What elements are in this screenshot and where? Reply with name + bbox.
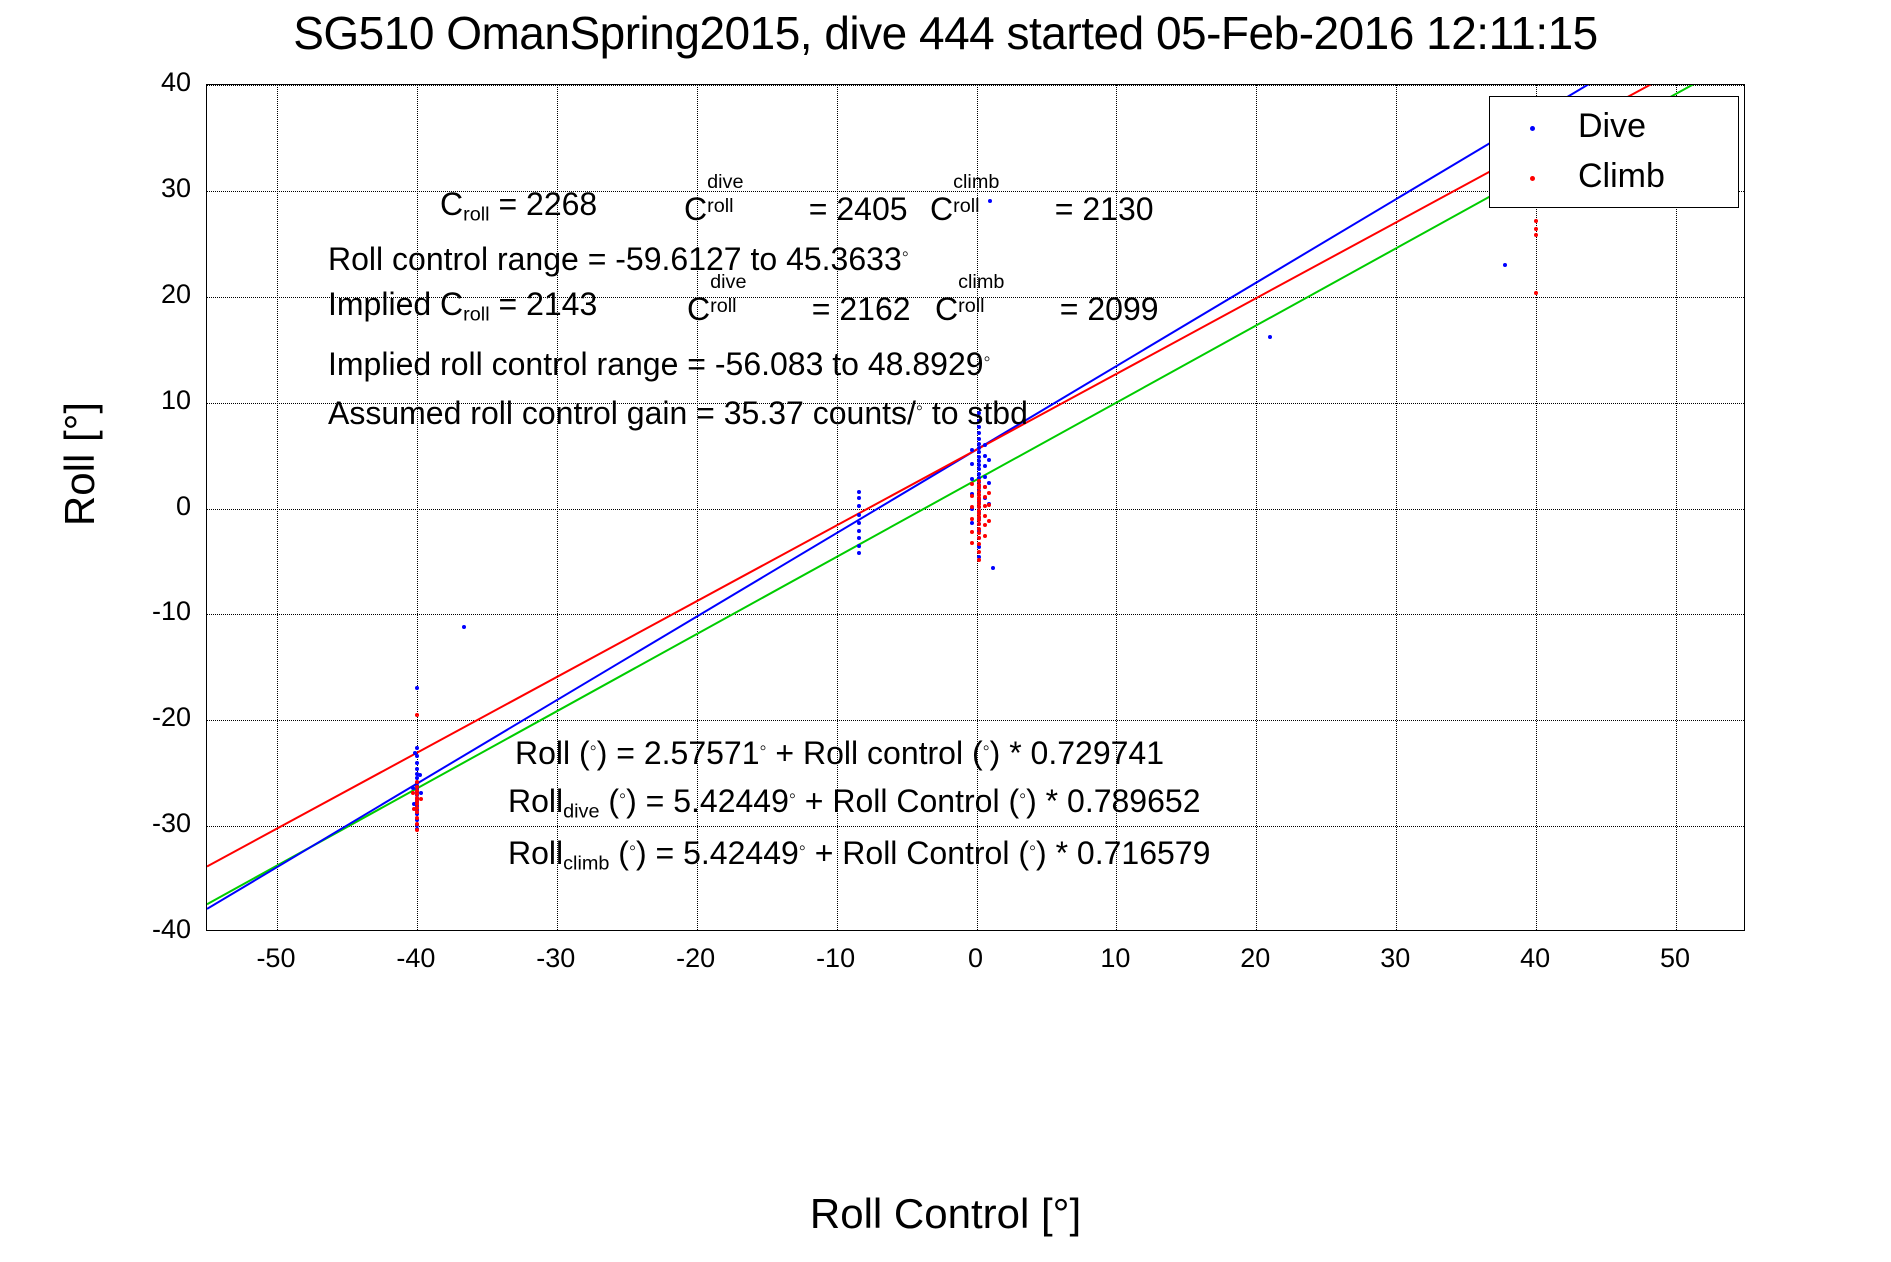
data-point-dive [970,448,974,452]
y-tick-label: -10 [91,596,191,627]
data-point-climb [970,530,974,534]
data-point-dive [983,454,987,458]
degree-symbol: ◦ [760,737,767,759]
gridline-horizontal [207,509,1744,510]
data-point-dive [857,529,861,533]
annotation-c-roll-climb: Cclimbroll = 2130 [930,188,1154,225]
data-point-dive [977,450,981,454]
annotation-implied-c-roll-dive: Cdiveroll = 2162 [687,288,911,325]
gridline-vertical [1536,85,1537,930]
x-tick-label: -20 [636,943,756,974]
degree-symbol: ◦ [590,737,597,759]
annotation-assumed-gain: Assumed roll control gain = 35.37 counts… [328,397,1028,429]
legend-label: Dive [1578,107,1646,146]
data-point-dive [987,481,991,485]
implied-climb-value: = 2099 [1060,291,1159,327]
eq-all-mid2: + Roll control ( [767,735,983,771]
annotation-equation-climb: Rollclimb (◦) = 5.42449◦ + Roll Control … [508,837,1210,874]
data-point-climb [415,780,419,784]
sub-roll: roll [710,297,736,317]
data-point-dive [462,625,466,629]
data-point-climb [983,514,987,518]
assumed-gain-post: to stbd [923,395,1028,431]
x-tick-label: 40 [1475,943,1595,974]
x-tick-label: 30 [1335,943,1455,974]
sup-climb: climb [953,173,999,193]
annotation-equation-all: Roll (◦) = 2.57571◦ + Roll control (◦) *… [515,737,1164,769]
data-point-dive [857,496,861,500]
gridline-vertical [277,85,278,930]
data-point-climb [970,517,974,521]
data-point-dive [857,551,861,555]
eq-climb-symbol: Rollclimb [508,835,609,871]
eq-all-pre: Roll ( [515,735,590,771]
data-point-climb [415,822,419,826]
data-point-climb [1534,219,1538,223]
data-point-climb [415,713,419,717]
data-point-climb [415,828,419,832]
x-tick-label: 10 [1055,943,1175,974]
data-point-climb [1534,233,1538,237]
eq-climb-open: ( [609,835,629,871]
data-point-climb [970,541,974,545]
data-point-climb [983,534,987,538]
annotation-implied-c-roll-climb: Cclimbroll = 2099 [935,288,1159,325]
page-title: SG510 OmanSpring2015, dive 444 started 0… [0,6,1891,60]
data-point-dive [987,458,991,462]
eq-dive-mid: ) = 5.42449 [626,783,789,819]
data-point-dive [970,477,974,481]
annotation-c-roll-dive: Cdiveroll = 2405 [684,188,908,225]
eq-climb-mid: ) = 5.42449 [636,835,799,871]
degree-symbol: ◦ [916,397,923,419]
data-point-dive [983,475,987,479]
assumed-gain-pre: Assumed roll control gain = 35.37 counts… [328,395,916,431]
sub-roll: roll [707,197,733,217]
data-point-climb [987,519,991,523]
c-roll-dive-value: = 2405 [809,191,908,227]
data-point-dive [415,761,419,765]
annotation-implied-c-roll: Implied Croll = 2143 [328,288,597,325]
y-tick-label: -30 [91,808,191,839]
legend-marker-icon [1530,176,1535,181]
data-point-dive [418,773,422,777]
roll-control-range-text: Roll control range = -59.6127 to 45.3633 [328,241,902,277]
x-axis-label: Roll Control [°] [0,1190,1891,1238]
y-tick-label: -20 [91,702,191,733]
implied-climb-symbol: Cclimbroll [935,291,1051,327]
annotation-c-roll: Croll = 2268 [440,188,597,225]
data-point-climb [977,522,981,526]
degree-symbol: ◦ [799,837,806,859]
data-point-climb [977,558,981,562]
data-point-dive [983,443,987,447]
x-tick-label: 0 [916,943,1036,974]
plot-area: Croll = 2268 Cdiveroll = 2405 Cclimbroll… [206,84,1745,931]
data-point-climb [977,531,981,535]
data-point-dive [857,536,861,540]
data-point-dive [415,746,419,750]
c-roll-symbol: Croll [440,186,490,222]
gridline-horizontal [207,614,1744,615]
implied-dive-value: = 2162 [812,291,911,327]
data-point-dive [415,767,419,771]
data-point-climb [1534,227,1538,231]
y-tick-label: 0 [91,491,191,522]
gridline-horizontal [207,720,1744,721]
data-point-climb [977,527,981,531]
c-roll-dive-symbol: Cdiveroll [684,191,800,227]
c-roll-value: = 2268 [498,186,597,222]
data-point-climb [983,485,987,489]
eq-climb-mid2: + Roll Control ( [806,835,1029,871]
legend-marker-icon [1530,126,1535,131]
data-point-dive [983,464,987,468]
degree-symbol: ◦ [629,837,636,859]
x-tick-label: -10 [776,943,896,974]
data-point-climb [983,523,987,527]
eq-climb-post: ) * 0.716579 [1036,835,1210,871]
gridline-horizontal [207,85,1744,86]
degree-symbol: ◦ [789,785,796,807]
y-tick-label: 30 [91,173,191,204]
x-tick-label: 20 [1195,943,1315,974]
implied-value: = 2143 [499,286,598,322]
gridline-vertical [1676,85,1677,930]
y-axis-label: Roll [°] [56,264,104,664]
data-point-dive [857,521,861,525]
sub-roll: roll [953,197,979,217]
legend-label: Climb [1578,157,1665,196]
x-tick-label: -40 [356,943,476,974]
eq-all-mid: ) = 2.57571 [597,735,760,771]
data-point-climb [983,495,987,499]
data-point-dive [970,521,974,525]
data-point-dive [415,686,419,690]
data-point-dive [977,455,981,459]
data-point-dive [977,437,981,441]
annotation-equation-dive: Rolldive (◦) = 5.42449◦ + Roll Control (… [508,785,1200,822]
gridline-vertical [1396,85,1397,930]
sup-climb: climb [958,273,1004,293]
legend-item-climb[interactable]: Climb [1490,153,1738,203]
data-point-dive [857,490,861,494]
data-point-climb [1534,291,1538,295]
degree-symbol: ◦ [902,243,909,265]
data-point-dive [1268,335,1272,339]
data-point-dive [970,462,974,466]
data-point-dive [419,791,423,795]
data-point-climb [970,494,974,498]
sup-dive: dive [707,173,743,193]
c-roll-climb-value: = 2130 [1055,191,1154,227]
gridline-horizontal [207,826,1744,827]
data-point-climb [415,816,419,820]
data-point-dive [857,544,861,548]
eq-dive-post: ) * 0.789652 [1026,783,1200,819]
data-point-climb [970,482,974,486]
x-tick-label: -50 [216,943,336,974]
implied-range-text: Implied roll control range = -56.083 to … [328,346,984,382]
eq-dive-open: ( [600,783,620,819]
eq-dive-symbol: Rolldive [508,783,600,819]
data-point-climb [419,797,423,801]
sub-roll: roll [958,297,984,317]
y-tick-label: 20 [91,279,191,310]
implied-prefix: Implied Croll [328,286,490,322]
data-point-climb [977,550,981,554]
gridline-vertical [1256,85,1257,930]
y-tick-label: 40 [91,67,191,98]
data-point-dive [977,472,981,476]
degree-symbol: ◦ [1029,837,1036,859]
eq-dive-mid2: + Roll Control ( [796,783,1019,819]
data-point-dive [977,431,981,435]
sup-dive: dive [710,273,746,293]
degree-symbol: ◦ [984,348,991,370]
annotation-roll-control-range: Roll control range = -59.6127 to 45.3633… [328,243,909,275]
data-point-dive [991,566,995,570]
annotation-implied-range: Implied roll control range = -56.083 to … [328,348,991,380]
data-point-climb [977,536,981,540]
data-point-dive [1503,263,1507,267]
data-point-climb [411,791,415,795]
data-point-dive [977,467,981,471]
x-tick-label: -30 [496,943,616,974]
x-tick-label: 50 [1615,943,1735,974]
degree-symbol: ◦ [983,737,990,759]
legend: DiveClimb [1489,96,1739,208]
data-point-dive [857,513,861,517]
implied-dive-symbol: Cdiveroll [687,291,803,327]
data-point-climb [987,491,991,495]
legend-item-dive[interactable]: Dive [1490,103,1738,153]
eq-all-post: ) * 0.729741 [990,735,1164,771]
c-roll-climb-symbol: Cclimbroll [930,191,1046,227]
data-point-climb [987,503,991,507]
y-tick-label: -40 [91,914,191,945]
y-tick-label: 10 [91,385,191,416]
